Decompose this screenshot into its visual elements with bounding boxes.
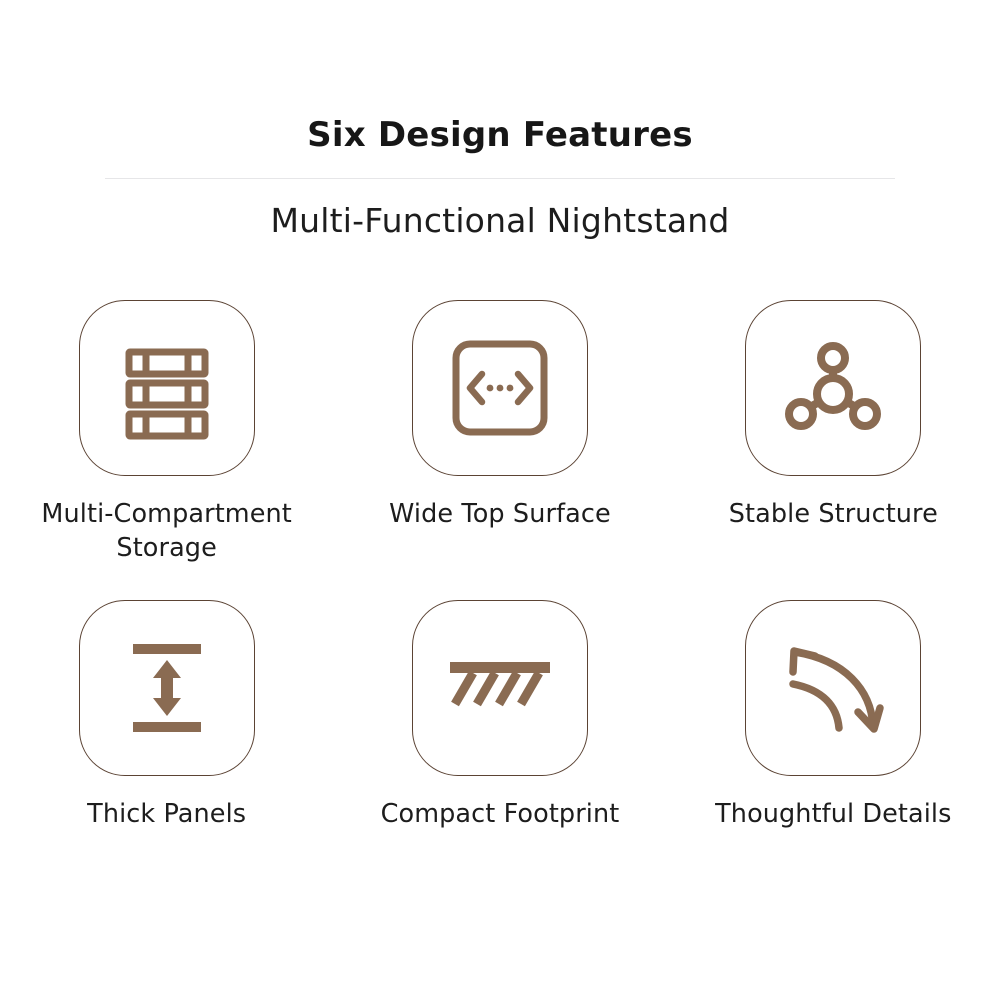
feature-icon-tile (412, 300, 588, 476)
feature-icon-tile (79, 600, 255, 776)
curved-double-arrow-icon (779, 634, 887, 742)
feature-item: Compact Footprint (350, 600, 650, 900)
feature-item: Multi-Compartment Storage (17, 300, 317, 600)
molecule-nodes-icon (781, 338, 885, 438)
feature-item: Thoughtful Details (683, 600, 983, 900)
features-grid: Multi-Compartment Storage (0, 300, 1000, 900)
feature-label: Multi-Compartment Storage (22, 498, 312, 565)
feature-label: Thick Panels (87, 798, 246, 832)
feature-icon-tile (745, 600, 921, 776)
hatched-surface-icon (446, 652, 554, 724)
feature-item: Stable Structure (683, 300, 983, 600)
feature-infographic-page: Six Design Features Multi-Functional Nig… (0, 0, 1000, 1000)
feature-item: Thick Panels (17, 600, 317, 900)
feature-label: Compact Footprint (381, 798, 620, 832)
feature-icon-tile (745, 300, 921, 476)
vertical-thickness-arrow-icon (121, 636, 213, 740)
feature-item: Wide Top Surface (350, 300, 650, 600)
page-title: Six Design Features (0, 0, 1000, 155)
feature-label: Thoughtful Details (715, 798, 951, 832)
page-subtitle: Multi-Functional Nightstand (0, 179, 1000, 241)
feature-icon-tile (79, 300, 255, 476)
header: Six Design Features Multi-Functional Nig… (0, 0, 1000, 241)
stacked-shelves-icon (115, 336, 219, 440)
feature-label: Stable Structure (729, 498, 938, 532)
feature-label: Wide Top Surface (389, 498, 611, 532)
feature-icon-tile (412, 600, 588, 776)
horizontal-width-arrows-icon (450, 338, 550, 438)
